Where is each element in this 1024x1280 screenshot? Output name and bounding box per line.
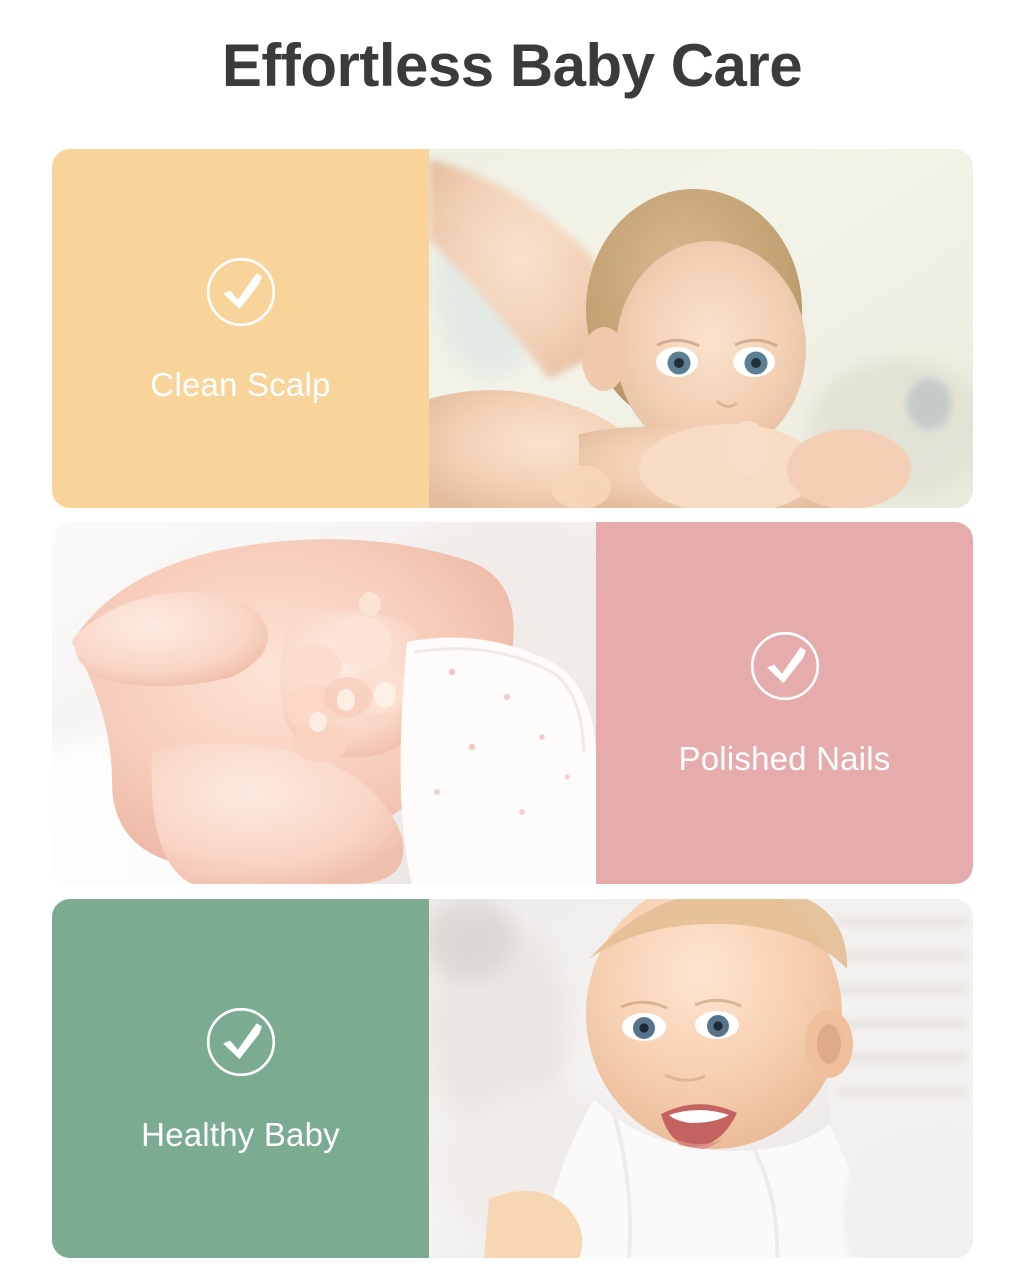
feature-photo-healthy-baby <box>429 899 973 1258</box>
feature-label-healthy-baby: Healthy Baby <box>141 1115 340 1155</box>
feature-row-clean-scalp: Clean Scalp <box>52 149 973 508</box>
feature-photo-polished-nails <box>52 522 596 884</box>
product-feature-page: Effortless Baby Care Clean Scalp <box>0 0 1024 1280</box>
feature-row-polished-nails: Polished Nails <box>52 522 973 884</box>
check-circle-icon <box>202 1003 280 1081</box>
page-title: Effortless Baby Care <box>0 30 1024 102</box>
check-circle-icon <box>202 253 280 331</box>
feature-row-healthy-baby: Healthy Baby <box>52 899 973 1258</box>
feature-panel-healthy-baby: Healthy Baby <box>52 899 429 1258</box>
check-circle-icon <box>746 627 824 705</box>
feature-photo-clean-scalp <box>429 149 973 508</box>
feature-panel-polished-nails: Polished Nails <box>596 522 973 884</box>
feature-label-clean-scalp: Clean Scalp <box>150 365 330 405</box>
feature-label-polished-nails: Polished Nails <box>679 739 891 779</box>
feature-panel-clean-scalp: Clean Scalp <box>52 149 429 508</box>
